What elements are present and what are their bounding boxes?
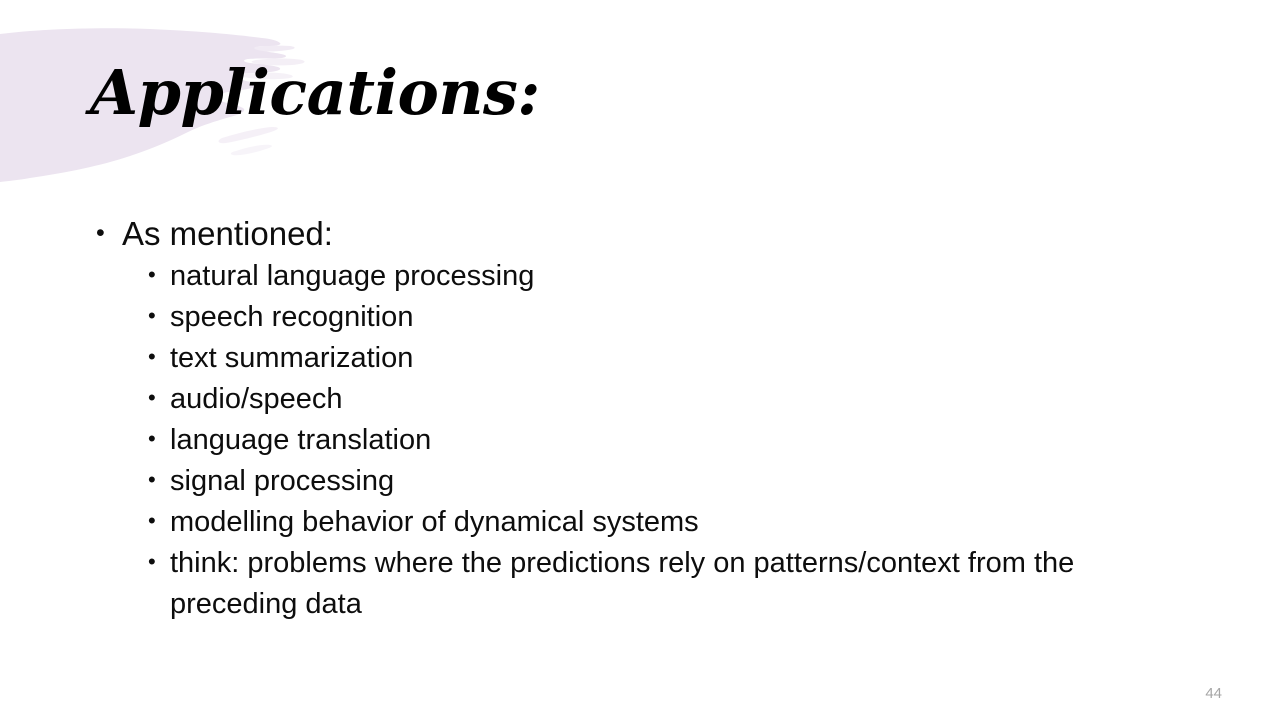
list-item: • think: problems where the predictions … (148, 543, 1176, 625)
bullet-marker-icon: • (148, 256, 170, 286)
list-item-label: signal processing (170, 461, 1148, 502)
bullet-marker-icon: • (148, 502, 170, 532)
list-item: • language translation (148, 420, 1176, 461)
page-number: 44 (1205, 685, 1222, 702)
list-item: • audio/speech (148, 379, 1176, 420)
list-item: • modelling behavior of dynamical system… (148, 502, 1176, 543)
list-item-label: natural language processing (170, 256, 1148, 297)
bullet-list: • As mentioned: • natural language proce… (96, 212, 1176, 625)
list-item-label: text summarization (170, 338, 1148, 379)
list-item: • As mentioned: (96, 212, 1176, 256)
list-item: • signal processing (148, 461, 1176, 502)
bullet-marker-icon: • (96, 212, 122, 246)
page-title: Applications: (90, 62, 540, 124)
list-item: • speech recognition (148, 297, 1176, 338)
list-item: • text summarization (148, 338, 1176, 379)
list-item-label: As mentioned: (122, 212, 1176, 256)
list-item-label: audio/speech (170, 379, 1148, 420)
bullet-marker-icon: • (148, 338, 170, 368)
list-item: • natural language processing (148, 256, 1176, 297)
bullet-marker-icon: • (148, 543, 170, 573)
slide-canvas: Applications: • As mentioned: • natural … (0, 0, 1280, 720)
bullet-marker-icon: • (148, 461, 170, 491)
list-item-label: language translation (170, 420, 1148, 461)
bullet-marker-icon: • (148, 420, 170, 450)
bullet-marker-icon: • (148, 297, 170, 327)
bullet-marker-icon: • (148, 379, 170, 409)
list-item-label: speech recognition (170, 297, 1148, 338)
list-item-label: think: problems where the predictions re… (170, 543, 1148, 625)
list-item-label: modelling behavior of dynamical systems (170, 502, 1148, 543)
